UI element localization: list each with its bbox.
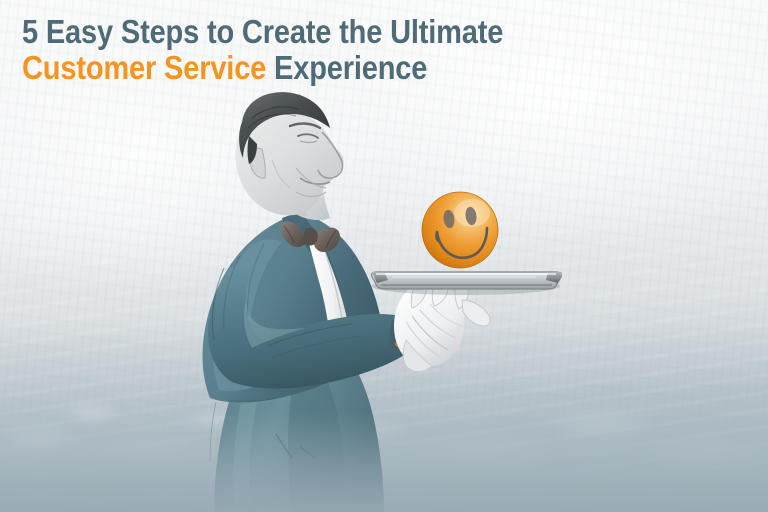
headline-line-1-text: 5 Easy Steps to Create the Ultimate <box>22 13 503 50</box>
headline-block: 5 Easy Steps to Create the Ultimate Cust… <box>22 16 569 84</box>
headline-line-2: Customer Service Experience <box>22 52 503 85</box>
serving-tray <box>372 272 562 295</box>
glove-thumb <box>462 300 490 326</box>
headline-highlight-text: Customer Service <box>22 49 266 86</box>
headline-rest-text: Experience <box>266 49 427 86</box>
smiley-face-ball <box>422 192 498 268</box>
poster-canvas: 5 Easy Steps to Create the Ultimate Cust… <box>0 0 768 512</box>
headline-line-1: 5 Easy Steps to Create the Ultimate <box>22 16 503 49</box>
bottom-fade <box>0 412 768 512</box>
